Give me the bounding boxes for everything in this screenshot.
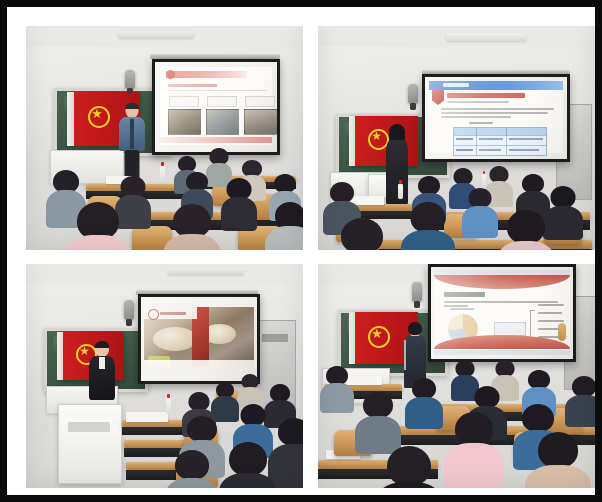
slide-subrule (168, 90, 267, 91)
slide-watermark-logo-icon (148, 309, 159, 320)
slide-center-node (494, 322, 526, 336)
presenter-hair-icon (408, 322, 422, 335)
student-head (363, 392, 393, 418)
student-torso (444, 443, 504, 488)
student-figure (212, 382, 238, 418)
projector-screen (431, 267, 573, 359)
student-figure (408, 378, 440, 426)
slide-table-caption (469, 122, 493, 124)
student-head (507, 210, 545, 244)
student-torso (405, 397, 443, 429)
student-torso (375, 482, 443, 488)
ceiling-light (446, 33, 526, 41)
photo-top-right[interactable]: ★ (318, 26, 595, 250)
slide-paragraph-line (441, 116, 511, 118)
photo-collage: ★ (26, 26, 595, 488)
slide-caption-box-1 (169, 96, 199, 107)
student-figure (464, 188, 496, 234)
ceiling-light (168, 268, 244, 275)
student-head (173, 204, 211, 238)
slide-paragraph-line (441, 108, 554, 110)
student-figure (448, 412, 500, 480)
student-figure (380, 446, 438, 488)
wall-camera-icon (412, 282, 422, 302)
projector-screen-frame (422, 74, 570, 162)
water-bottle (160, 166, 165, 182)
student-head (572, 376, 595, 397)
student-figure (500, 210, 552, 250)
student-figure (238, 374, 262, 408)
ceiling-light (118, 31, 194, 38)
slide-list-item (538, 328, 560, 330)
photo-bottom-left[interactable]: ★ (26, 264, 303, 488)
slide-thumbnail-3 (244, 109, 277, 135)
presenter-hair-icon (95, 341, 110, 348)
student-head (387, 446, 431, 486)
student-figure (166, 204, 218, 250)
slide-paragraph-line (444, 301, 558, 303)
student-figure (530, 432, 586, 488)
student-figure (70, 202, 126, 250)
presenter-tracksuit-stripe (404, 340, 406, 370)
student-head (455, 412, 493, 446)
student-head (241, 404, 266, 426)
slide-statusbar (434, 350, 570, 355)
student-figure (272, 418, 303, 484)
slide-list-item (538, 320, 564, 322)
slide-section-heading (444, 292, 485, 297)
slide-paragraph-line (441, 112, 548, 114)
student-figure (222, 178, 256, 228)
desk-notebook (126, 412, 168, 422)
student-torso (221, 197, 257, 231)
student-head (187, 416, 217, 442)
water-bottle (166, 398, 171, 414)
student-torso (265, 226, 303, 250)
student-torso (497, 241, 555, 250)
student-head (175, 450, 209, 480)
slide-title-bar (166, 71, 247, 78)
slide-list-item (538, 312, 562, 314)
presenter-shirt (99, 357, 105, 369)
student-torso (401, 230, 455, 250)
student-head (412, 378, 436, 399)
presenter-figure (384, 126, 410, 206)
slide-heading-sub (447, 101, 509, 103)
student-torso (525, 465, 591, 488)
projector-screen-frame (152, 59, 280, 155)
slide-footer-bar (160, 137, 272, 143)
slide-banner-label (443, 83, 469, 87)
slide-wave-top (434, 275, 570, 289)
student-figure (334, 218, 390, 250)
projector-screen (155, 62, 277, 152)
presenter-figure (88, 342, 116, 402)
student-head (275, 202, 303, 229)
student-figure (268, 202, 303, 250)
slide-title-icon (166, 70, 175, 79)
student-torso (219, 473, 277, 488)
lectern (58, 404, 122, 484)
slide-pie-caption (450, 308, 474, 310)
flag-star-icon: ★ (368, 327, 386, 340)
projector-screen (141, 297, 257, 381)
student-head (411, 202, 446, 233)
desk-front-panel (122, 427, 184, 435)
photo-frame: ★ (0, 0, 602, 502)
wall-camera-icon (408, 84, 418, 104)
student-head (278, 418, 303, 446)
student-figure (568, 376, 595, 424)
student-figure (322, 366, 352, 410)
water-bottle (398, 184, 403, 199)
presenter-jacket-placket (130, 119, 134, 149)
slide-watermark-text (160, 312, 186, 315)
photo-top-left[interactable]: ★ (26, 26, 303, 250)
slide-list-item (538, 304, 564, 306)
slide-caption-box-2 (207, 96, 237, 107)
student-torso (165, 478, 219, 488)
flag-star-icon: ★ (88, 107, 106, 120)
slide-thumbnail-1 (168, 109, 201, 135)
student-head (522, 404, 554, 432)
dumpling-cluster (153, 327, 197, 351)
student-figure (404, 202, 452, 250)
projector-screen (425, 77, 567, 159)
slide-flag-icon (432, 90, 444, 105)
student-figure (358, 392, 398, 448)
student-head (121, 176, 146, 197)
slide-subtitle (168, 84, 217, 87)
student-torso (163, 234, 221, 250)
slide-caption-box-3 (245, 96, 275, 107)
door-vent (262, 334, 288, 342)
photo-bottom-right[interactable]: ★ (318, 264, 595, 488)
wall-camera-icon (124, 300, 134, 320)
student-head (330, 182, 354, 203)
slide-mascot-icon (558, 323, 566, 341)
student-head (229, 442, 267, 476)
student-head (538, 432, 578, 468)
slide-thumbnail-2 (206, 109, 239, 135)
projector-screen-frame (428, 264, 576, 362)
student-head (341, 218, 383, 250)
student-torso (565, 395, 595, 427)
slide-bottom-bar (144, 360, 257, 367)
wall-camera-icon (125, 70, 135, 89)
slide-table (453, 127, 547, 156)
student-head (475, 386, 500, 408)
slide-heading (447, 93, 525, 98)
flag-star-icon: ★ (368, 130, 385, 142)
projector-screen-frame (138, 294, 260, 384)
presenter-cap-icon (125, 103, 139, 109)
slide-paragraph-line (444, 305, 468, 307)
ceiling-strip (26, 264, 303, 284)
student-head (469, 188, 492, 208)
student-torso (65, 235, 131, 250)
student-head (551, 186, 576, 208)
presenter-coat (386, 140, 408, 204)
student-torso (462, 206, 498, 238)
lectern-vent (68, 422, 110, 432)
student-figure (222, 442, 274, 488)
presenter-figure (118, 104, 146, 186)
student-figure (168, 450, 216, 488)
student-torso (320, 383, 354, 413)
